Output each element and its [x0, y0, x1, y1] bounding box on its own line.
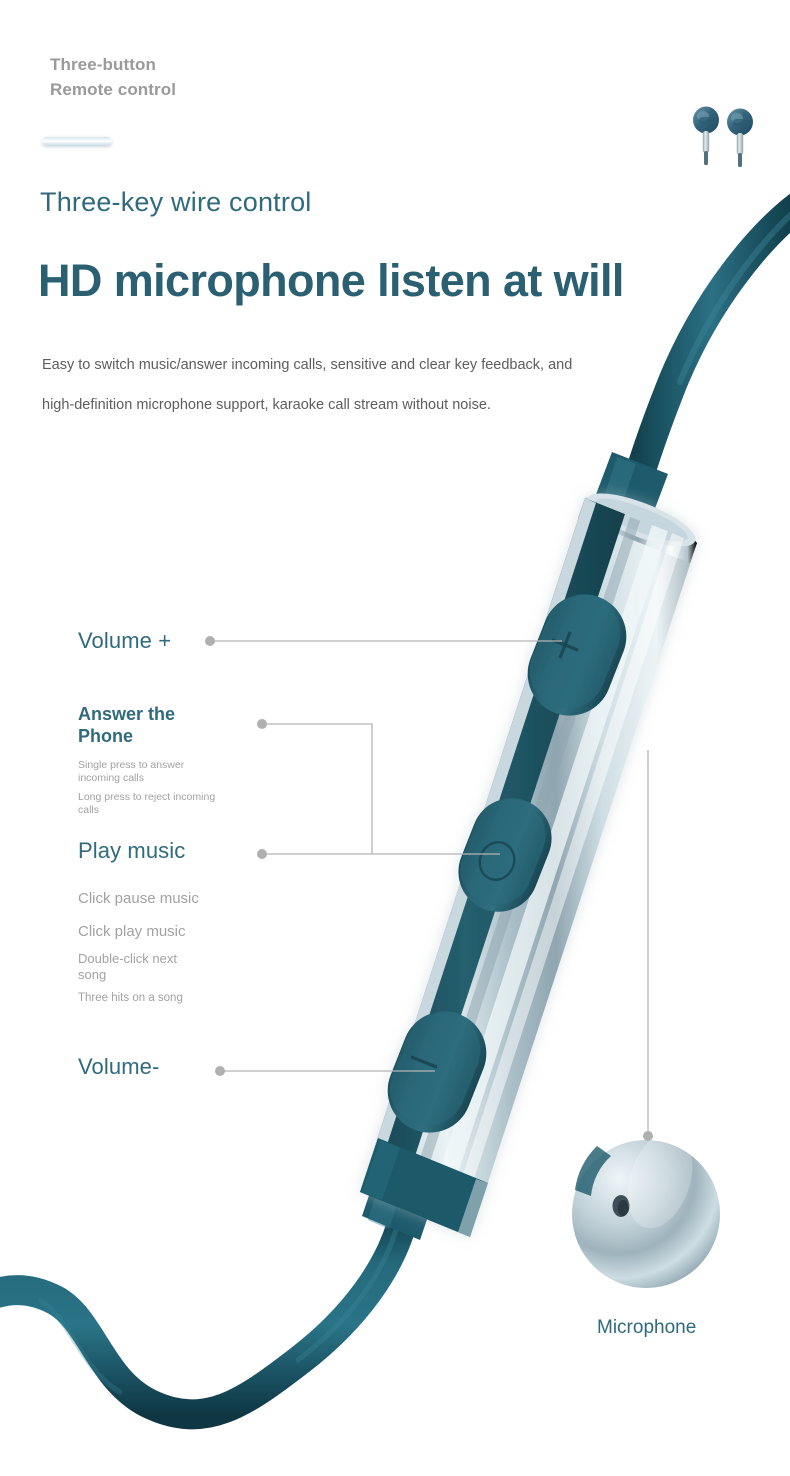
play-music-detail-4: Three hits on a song: [78, 991, 183, 1006]
callout-volume-down-title: Volume-: [78, 1054, 159, 1080]
callout-volume-up-title: Volume +: [78, 628, 171, 654]
play-music-detail-1: Click pause music: [78, 890, 199, 908]
page-title: HD microphone listen at will: [38, 255, 624, 307]
callout-answer-phone-title: Answer the Phone: [78, 703, 175, 747]
answer-phone-line-2: Phone: [78, 726, 133, 746]
eyebrow-heading: Three-button Remote control: [50, 52, 176, 102]
section-kicker: Three-key wire control: [40, 187, 312, 218]
answer-phone-detail-2: Long press to reject incoming calls: [78, 791, 218, 817]
infographic-page: Three-button Remote control Three-key wi…: [0, 0, 790, 1476]
eyebrow-line-1: Three-button: [50, 52, 176, 77]
eyebrow-line-2: Remote control: [50, 77, 176, 102]
play-music-detail-2: Click play music: [78, 923, 186, 941]
callout-play-music-title: Play music: [78, 838, 185, 864]
pill-divider-icon: [42, 137, 112, 146]
body-copy: Easy to switch music/answer incoming cal…: [42, 345, 602, 425]
answer-phone-line-1: Answer the: [78, 704, 175, 724]
answer-phone-detail-1: Single press to answer incoming calls: [78, 759, 218, 785]
play-music-detail-3: Double-click next song: [78, 951, 208, 983]
microphone-label: Microphone: [597, 1317, 696, 1339]
